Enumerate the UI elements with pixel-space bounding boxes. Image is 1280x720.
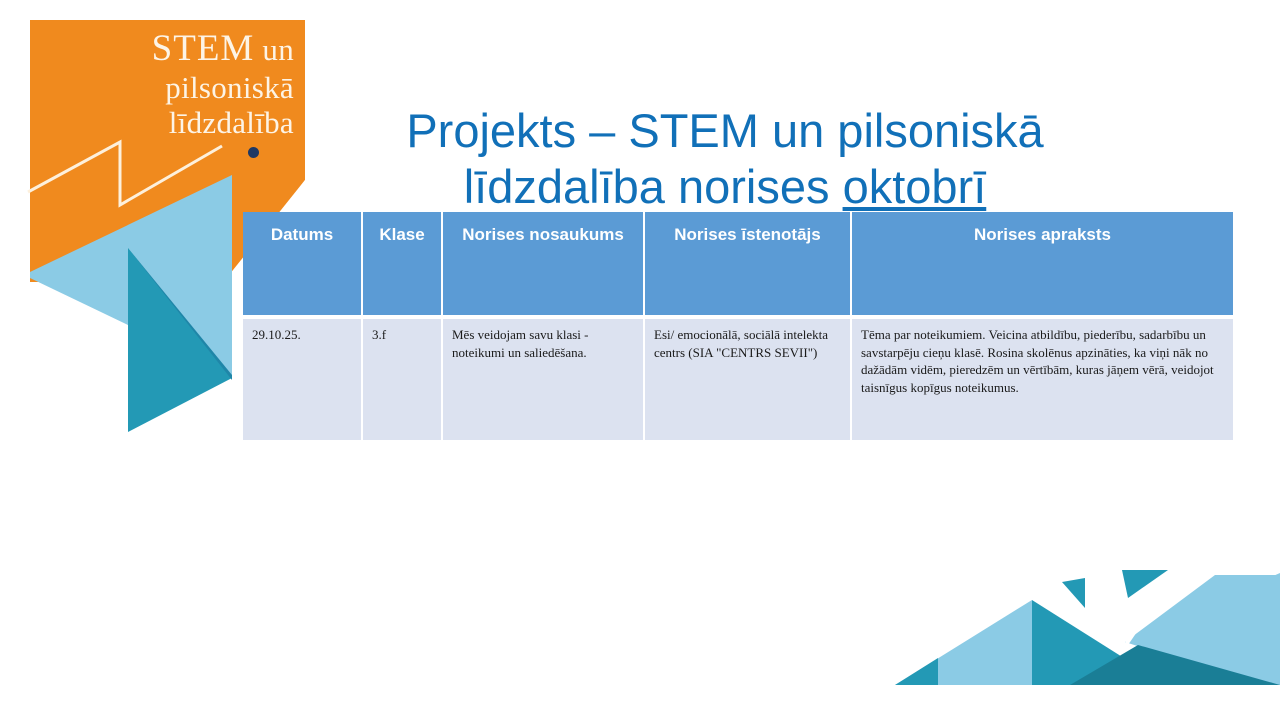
norises-table: Datums Klase Norises nosaukums Norises ī… [243, 212, 1233, 440]
cell-istenotajs: Esi/ emocionālā, sociālā intelekta centr… [645, 319, 852, 440]
decor-small-triangle-right [1122, 570, 1168, 598]
title-line-2: līdzdalība norises oktobrī [330, 159, 1120, 214]
table-row: 29.10.25. 3.f Mēs veidojam savu klasi - … [243, 319, 1233, 440]
cell-datums: 29.10.25. [243, 319, 363, 440]
decor-left-teal-base [895, 658, 938, 685]
table-header-row: Datums Klase Norises nosaukums Norises ī… [243, 212, 1233, 315]
column-header-norises-istenotajs: Norises īstenotājs [645, 212, 852, 315]
column-header-norises-nosaukums: Norises nosaukums [443, 212, 645, 315]
table-body: 29.10.25. 3.f Mēs veidojam savu klasi - … [243, 315, 1233, 440]
bottom-decorative-graphic [860, 550, 1280, 720]
bottom-decor-svg [860, 550, 1280, 720]
title-line-2-underlined: oktobrī [843, 160, 987, 213]
title-line-2-plain: līdzdalība norises [464, 160, 843, 213]
column-header-klase: Klase [363, 212, 443, 315]
table-header: Datums Klase Norises nosaukums Norises ī… [243, 212, 1233, 315]
title-bullet-point [248, 147, 259, 158]
column-header-datums: Datums [243, 212, 363, 315]
cell-apraksts: Tēma par noteikumiem. Veicina atbildību,… [852, 319, 1233, 440]
title-line-1: Projekts – STEM un pilsoniskā [330, 103, 1120, 158]
column-header-norises-apraksts: Norises apraksts [852, 212, 1233, 315]
cell-nosaukums: Mēs veidojam savu klasi - noteikumi un s… [443, 319, 645, 440]
cell-klase: 3.f [363, 319, 443, 440]
page-title: Projekts – STEM un pilsoniskā līdzdalība… [330, 103, 1120, 214]
slide-canvas: STEM un pilsoniskā līdzdalība Projekts –… [0, 0, 1280, 720]
decor-small-triangle-left [1062, 578, 1085, 608]
